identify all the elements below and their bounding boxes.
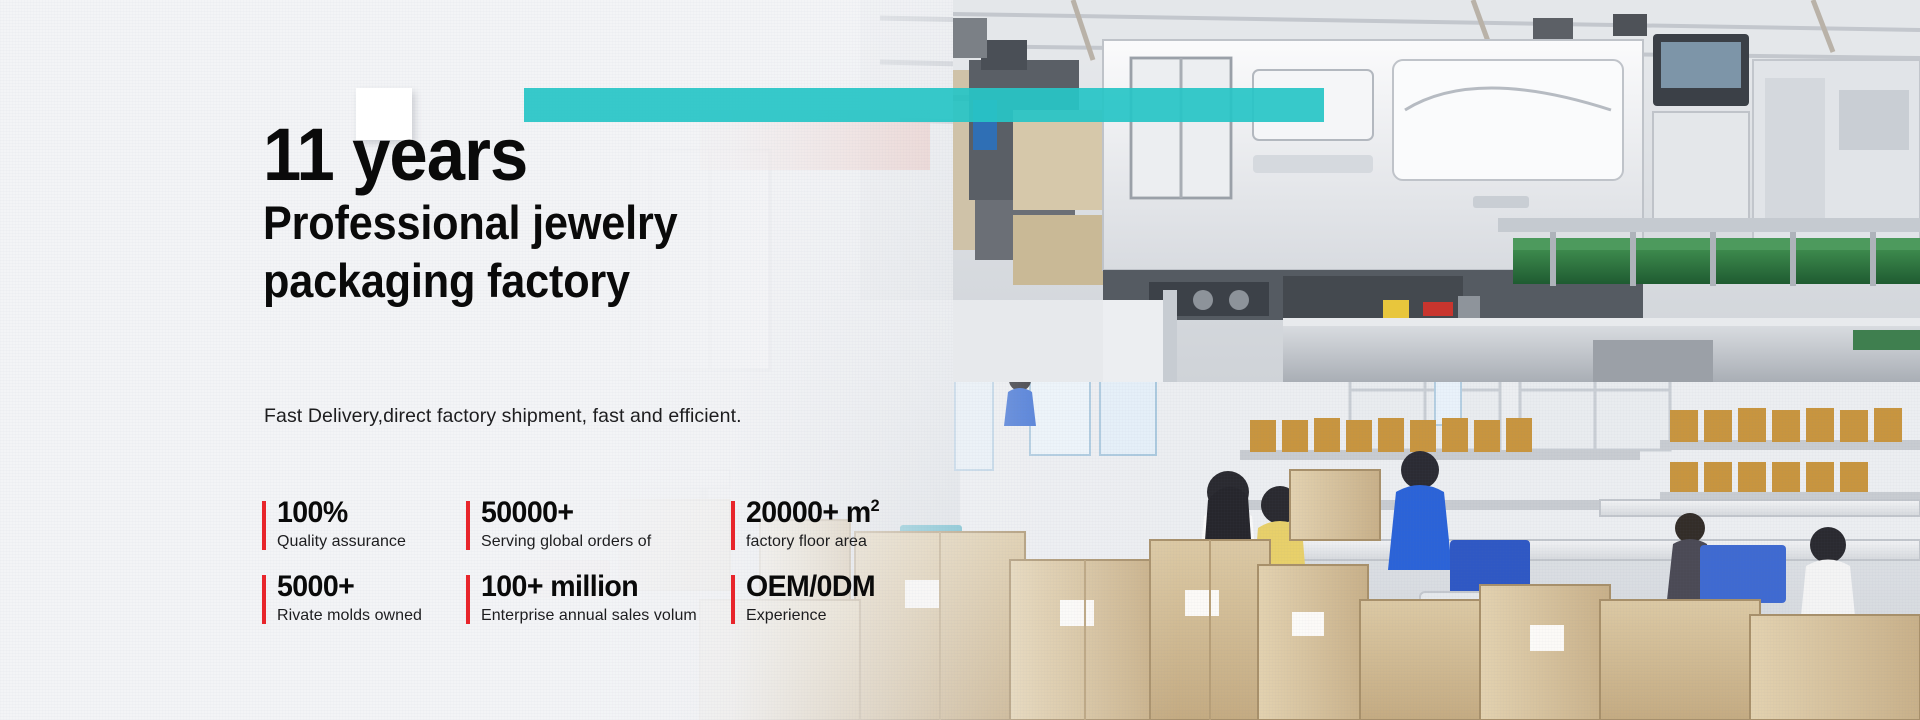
stat-value: OEM/0DM [746,571,960,603]
stat-label: Serving global orders of [481,532,731,552]
stat-item: 50000+ Serving global orders of [466,497,731,559]
stat-label: Experience [746,606,971,626]
stat-value-text: OEM/0DM [746,570,875,603]
stat-item: 100+ million Enterprise annual sales vol… [466,571,731,633]
red-rule [262,501,266,550]
stat-value-text: 100+ million [481,570,638,603]
banner-content: 11 years Professional jewelry packaging … [0,0,1100,720]
stat-value-text: 5000+ [277,570,354,603]
headline-line-3: packaging factory [263,253,962,308]
stat-label: factory floor area [746,532,971,552]
stat-value-text: 20000+ m [746,496,871,529]
stat-item: OEM/0DM Experience [731,571,971,633]
stat-value: 50000+ [481,497,719,529]
stat-label: Quality assurance [277,532,466,552]
stats-grid: 100% Quality assurance 50000+ Serving gl… [262,497,971,633]
stat-value: 100% [277,497,457,529]
stat-item: 20000+ m2 factory floor area [731,497,971,559]
stat-label: Enterprise annual sales volum [481,606,731,626]
red-rule [731,501,735,550]
headline-line-1: 11 years [263,118,970,192]
red-rule [731,575,735,624]
headline-line-2: Professional jewelry [263,195,962,250]
stat-label: Rivate molds owned [277,606,466,626]
stat-superscript: 2 [871,496,879,515]
stat-value: 100+ million [481,571,719,603]
subtitle: Fast Delivery,direct factory shipment, f… [264,405,742,428]
stat-value: 20000+ m2 [746,497,960,529]
stat-item: 100% Quality assurance [262,497,466,559]
stat-value-text: 100% [277,496,348,529]
red-rule [466,575,470,624]
stat-item: 5000+ Rivate molds owned [262,571,466,633]
stat-value: 5000+ [277,571,457,603]
red-rule [466,501,470,550]
stat-value-text: 50000+ [481,496,573,529]
promo-banner: 11 years Professional jewelry packaging … [0,0,1920,720]
headline: 11 years Professional jewelry packaging … [263,118,1023,308]
red-rule [262,575,266,624]
